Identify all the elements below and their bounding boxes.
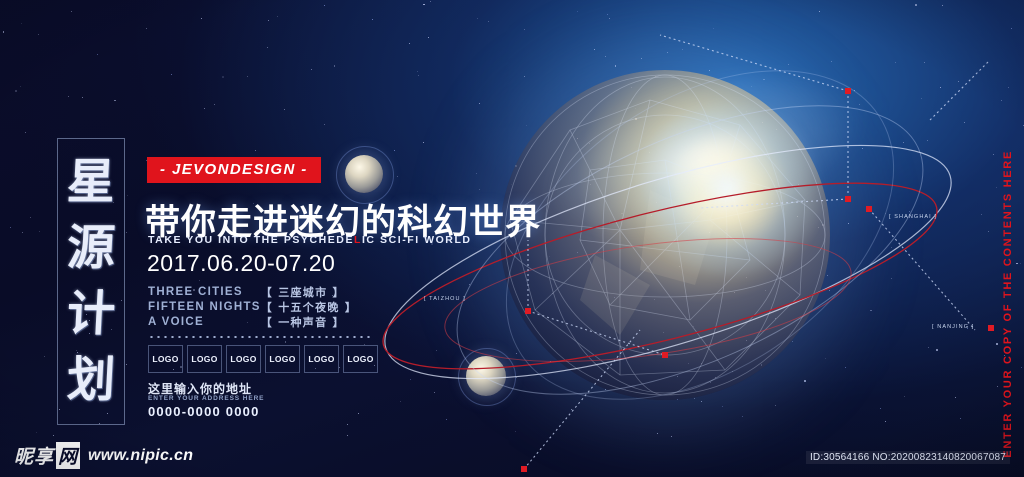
vignette (0, 0, 1024, 477)
poster-canvas: [ TAIZHOU ][ SHANGHAI ][ NANJING ] 星 源 计… (0, 0, 1024, 477)
